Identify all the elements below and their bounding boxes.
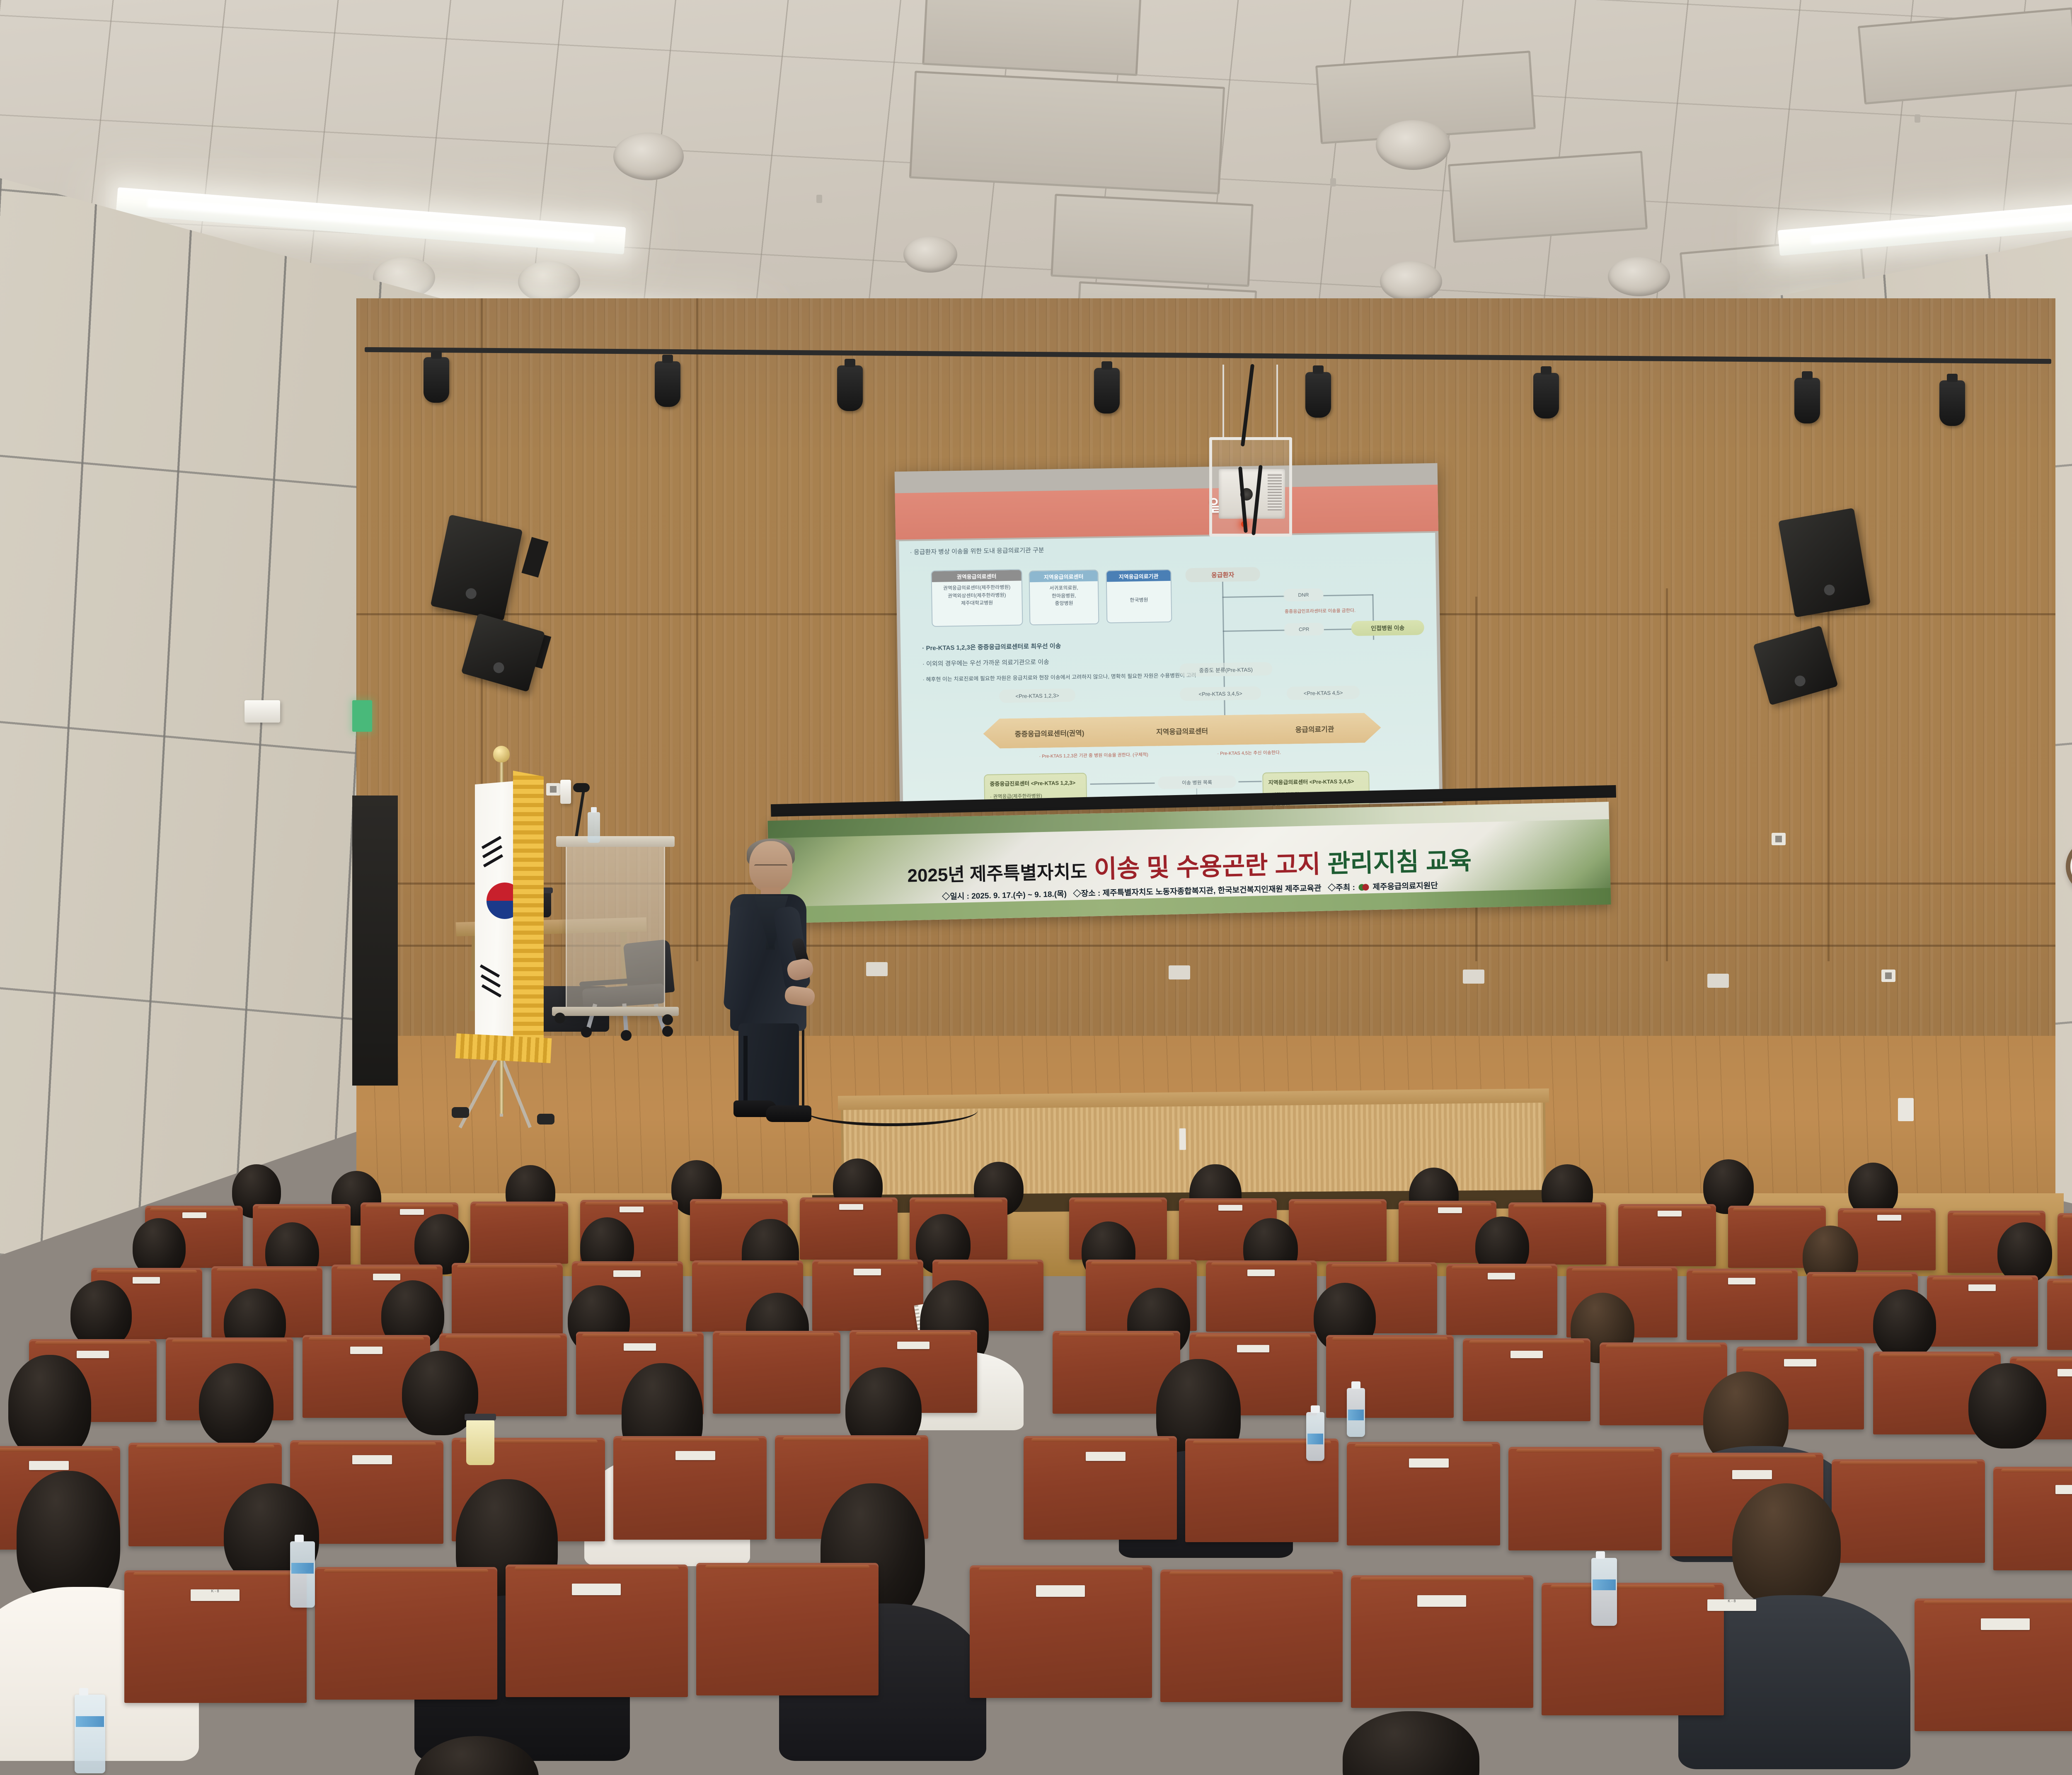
side-door[interactable]	[352, 796, 398, 1086]
podium-caster	[662, 1014, 673, 1025]
wall-outlet	[1881, 970, 1895, 982]
seat-number-label: K - 8	[191, 1589, 240, 1593]
slide-box-0: 권역응급의료센터 권역응급의료센터(제주한라병원) 권역외상센터(제주한라병원)…	[931, 569, 1023, 627]
audience-head	[17, 1471, 120, 1603]
flag-gold-fringe	[513, 771, 544, 1061]
water-bottle	[1306, 1412, 1324, 1461]
flow-root: 응급환자	[1185, 567, 1260, 583]
flag-stand-foot	[537, 1114, 554, 1124]
seat-number-plate	[897, 1342, 929, 1349]
audience-head	[1997, 1222, 2052, 1283]
hvac-vent	[1448, 151, 1648, 243]
slide-header-band	[895, 485, 1438, 540]
seat-number-plate	[675, 1451, 715, 1460]
stage-track-light	[1794, 378, 1820, 423]
seat-number-plate	[1728, 1278, 1755, 1284]
sprinkler-head	[816, 195, 822, 203]
hvac-vent	[1051, 194, 1254, 287]
seat-number-plate	[2055, 1485, 2072, 1494]
wall-outlet	[1707, 974, 1729, 988]
seat-number-plate: K - 8	[1707, 1599, 1756, 1611]
water-bottle	[290, 1541, 315, 1608]
arrow-note-right: · Pre-KTAS 4,5는 추신 이송한다.	[1217, 749, 1281, 757]
seat[interactable]	[315, 1567, 497, 1700]
flag-finial	[493, 746, 510, 762]
drink-cup	[466, 1420, 494, 1465]
stage-track-light	[1305, 372, 1331, 418]
projector-hanger	[1222, 365, 1224, 439]
water-bottle	[75, 1695, 105, 1773]
banner-host-value: 제주응급의료지원단	[1372, 881, 1438, 892]
seat[interactable]	[1289, 1199, 1387, 1261]
seat[interactable]	[1160, 1569, 1343, 1702]
seat-number-plate	[350, 1347, 382, 1354]
seat-number-plate	[839, 1204, 863, 1210]
seat-number-plate	[1237, 1345, 1269, 1352]
banner-place-value: 제주특별자치도 노동자종합복지관, 한국보건복지인재원 제주교육관	[1102, 884, 1321, 898]
seat-number-plate	[400, 1209, 424, 1215]
ceiling-speaker-dome	[1380, 261, 1442, 302]
slide-bullet-0: · Pre-KTAS 1,2,3은 중증응급의료센터로 최우선 이송	[922, 641, 1061, 652]
wall-plate	[560, 780, 571, 804]
seat-number-plate	[373, 1274, 400, 1280]
seat-number-plate	[1981, 1618, 2030, 1630]
stage-track-light	[1094, 368, 1120, 414]
seat-number-plate	[1438, 1207, 1462, 1213]
seat-number-plate	[1877, 1215, 1901, 1221]
seat-number-plate	[1409, 1458, 1449, 1468]
slide-bullet-2: · 혜후현 이는 치료진료에 필요한 자원은 응급치료와 현장 이송에서 고려하…	[922, 671, 1196, 683]
slide-top-bullet: · 응급환자 병상 이송을 위한 도내 응급의료기관 구분	[910, 546, 1044, 556]
seat[interactable]	[696, 1563, 879, 1695]
hvac-vent	[909, 71, 1225, 195]
chain-0: 이송 병원 목록	[1158, 775, 1236, 789]
seat-number-plate	[1732, 1470, 1772, 1479]
seat-number-label: K - 8	[1707, 1599, 1756, 1603]
flow-dnr-note: 중증응급인프라센터로 이송을 금한다.	[1285, 607, 1356, 615]
seat-number-plate	[1086, 1452, 1126, 1461]
flag-stand-foot	[452, 1107, 469, 1118]
slide-box-0-body: 권역응급의료센터(제주한라병원) 권역외상센터(제주한라병원) 제주대학교병원	[932, 581, 1022, 610]
seat-number-plate	[1658, 1211, 1682, 1216]
wall-plate	[1898, 1098, 1914, 1121]
ceiling-speaker-dome	[613, 133, 684, 180]
ktas-pill-0: <Pre-KTAS 1,2,3>	[999, 689, 1075, 703]
audience-head	[1732, 1483, 1841, 1608]
banner-title-prefix: 2025년 제주특별자치도	[907, 862, 1087, 886]
seat[interactable]	[2057, 1213, 2072, 1275]
seat-number-plate	[620, 1207, 644, 1212]
seat-number-plate	[854, 1269, 881, 1275]
chair-caster	[621, 1030, 632, 1041]
seat-number-plate	[1218, 1205, 1242, 1211]
seat[interactable]	[1993, 1467, 2072, 1570]
seat[interactable]	[1508, 1447, 1662, 1550]
auditorium-photo: 일반 원칙 · 응급환자 병상 이송을 위한 도내 응급의료기관 구분 권역응급…	[0, 0, 2072, 1775]
podium-caster	[554, 1013, 565, 1023]
presenter-shoe	[766, 1105, 811, 1122]
presenter-glasses-icon	[754, 864, 787, 871]
water-bottle	[1591, 1558, 1617, 1626]
podium-top-surface	[556, 836, 675, 847]
seat-number-plate	[1968, 1284, 1996, 1291]
stage-track-light	[424, 357, 449, 403]
seat-number-plate	[1784, 1359, 1816, 1366]
tier-2: 응급의료기관	[1248, 722, 1381, 735]
banner-place-label: ◇장소 :	[1073, 889, 1101, 898]
seat[interactable]	[452, 1263, 563, 1334]
seat-number-plate	[77, 1351, 109, 1358]
projection-screen: 일반 원칙 · 응급환자 병상 이송을 위한 도내 응급의료기관 구분 권역응급…	[895, 463, 1443, 811]
banner-title-green: 관리지침 교육	[1327, 847, 1472, 878]
stage-track-light	[1939, 380, 1965, 426]
water-bottle	[1347, 1388, 1365, 1437]
seat-number-plate	[572, 1584, 621, 1595]
wall-outlet	[546, 783, 560, 796]
seat-number-plate	[29, 1461, 69, 1470]
banner-date-value: 2025. 9. 17.(수) ~ 9. 18.(목)	[971, 890, 1067, 901]
sprinkler-head	[1330, 178, 1336, 186]
wall-control-box[interactable]	[244, 700, 280, 723]
wall-outlet	[1169, 965, 1190, 979]
ramp-plate	[1179, 1128, 1186, 1150]
wall-switch[interactable]	[1772, 833, 1786, 845]
projector-cage	[1209, 437, 1292, 537]
tier-1: 지역응급의료센터	[1116, 725, 1248, 737]
slide-box-1-body: 서귀포의료원, 한마음병원, 중앙병원	[1030, 581, 1098, 610]
tier-0: 중증응급의료센터(권역)	[983, 727, 1116, 739]
seat-number-plate	[1488, 1273, 1515, 1279]
seat-number-plate	[1417, 1595, 1466, 1607]
hvac-vent	[922, 0, 1142, 76]
seat-number-plate	[1247, 1270, 1275, 1276]
flag-gold-fringe-bottom	[455, 1033, 552, 1063]
chair-caster	[662, 1026, 673, 1037]
podium-base	[552, 1007, 679, 1016]
ceiling-speaker-dome	[1376, 120, 1450, 170]
audience-head	[8, 1355, 91, 1458]
seat[interactable]	[713, 1331, 840, 1414]
flow-dnr: DNR	[1283, 588, 1323, 602]
sprinkler-head	[1915, 114, 1920, 123]
seat-number-plate	[1510, 1351, 1543, 1358]
slide-bullet-1: · 이외의 경우에는 우선 가까운 의료기관으로 이송	[922, 658, 1049, 668]
seat-number-plate	[133, 1277, 160, 1284]
seat-number-plate	[2057, 1369, 2072, 1376]
slide-box-0-header: 권역응급의료센터	[932, 570, 1021, 582]
seat-number-plate	[182, 1212, 206, 1218]
seat[interactable]	[2047, 1279, 2072, 1350]
slide-box-1: 지역응급의료센터 서귀포의료원, 한마음병원, 중앙병원	[1029, 570, 1099, 626]
presenter	[714, 841, 818, 1123]
stage-track-light	[837, 365, 863, 411]
ktas-pill-2: <Pre-KTAS 4,5>	[1287, 686, 1360, 700]
seat[interactable]	[1542, 1583, 1724, 1715]
banner-title-red: 이송 및 수용곤란 고지	[1094, 850, 1321, 883]
projector-hanger	[1276, 365, 1278, 439]
seat-number-plate: K - 8	[191, 1589, 240, 1601]
slide-box-1-header: 지역응급의료센터	[1029, 571, 1097, 583]
audience-head	[1968, 1363, 2046, 1449]
flow-triage: 중증도 분류(Pre-KTAS)	[1179, 662, 1272, 677]
audience-head	[199, 1363, 274, 1446]
chair-caster	[581, 1027, 592, 1037]
water-bottle-on-podium	[588, 812, 600, 843]
slide-box-2: 지역응급의료기관 한국병원	[1106, 569, 1172, 623]
audience-head	[1343, 1711, 1479, 1775]
podium-microphone	[573, 783, 590, 792]
tier-arrow-bar: 중증응급의료센터(권역) 지역응급의료센터 응급의료기관	[983, 713, 1381, 749]
event-banner: 2025년 제주특별자치도 이송 및 수용곤란 고지 관리지침 교육 ◇일시 :…	[767, 802, 1611, 924]
acrylic-lectern	[566, 841, 665, 1015]
seat[interactable]	[470, 1202, 568, 1264]
flow-nearest-hospital: 인접병원 이송	[1351, 620, 1424, 636]
audience-head	[70, 1280, 132, 1348]
banner-host-label: ◇주최 :	[1328, 883, 1355, 892]
slide-box-2-header: 지역응급의료기관	[1106, 570, 1170, 582]
banner-date-label: ◇일시 :	[942, 892, 969, 901]
projector-body	[1219, 469, 1285, 519]
wall-outlet	[1463, 970, 1484, 984]
seat-number-plate	[613, 1270, 641, 1277]
ceiling-speaker-dome	[518, 261, 580, 302]
seat-number-plate	[624, 1343, 656, 1351]
audience-head	[1873, 1289, 1936, 1359]
seat-number-plate	[1036, 1585, 1085, 1597]
wall-outlet	[866, 962, 888, 976]
arrow-note-left: · Pre-KTAS 1,2,3은 기관 중 병원 이송을 권한다. (구체적)	[1039, 751, 1148, 759]
host-logo-icon	[1358, 883, 1369, 892]
stage-track-light	[655, 361, 680, 407]
ceiling-speaker-dome	[1608, 257, 1670, 296]
projected-slide: 일반 원칙 · 응급환자 병상 이송을 위한 도내 응급의료기관 구분 권역응급…	[895, 463, 1443, 811]
stage-track-light	[1533, 373, 1559, 418]
slide-box-2-body: 한국병원	[1107, 581, 1171, 607]
exit-sign-icon	[352, 700, 372, 732]
ceiling-speaker-dome	[903, 236, 957, 273]
projector-vent	[1268, 473, 1282, 510]
seat[interactable]	[1326, 1335, 1454, 1418]
audience-seating: K - 8 K - 8	[0, 1156, 2072, 1775]
seat[interactable]	[1347, 1442, 1500, 1545]
slide-body: · 응급환자 병상 이송을 위한 도내 응급의료기관 구분 권역응급의료센터 권…	[899, 533, 1439, 805]
seat-number-plate	[352, 1455, 392, 1464]
seat[interactable]	[1832, 1459, 1985, 1563]
flow-cpr: CPR	[1284, 623, 1324, 636]
ktas-pill-1: <Pre-KTAS 3,4,5>	[1180, 687, 1261, 701]
